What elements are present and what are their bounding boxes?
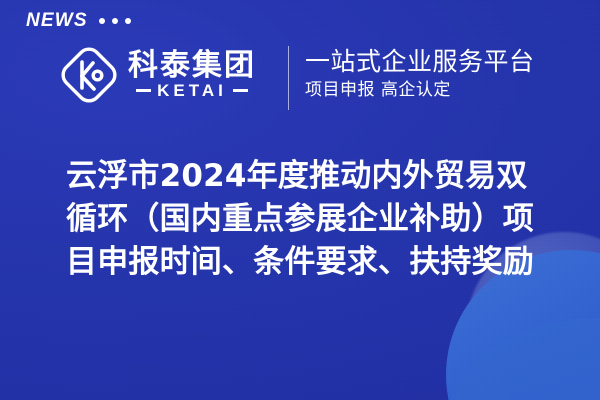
page-title: 云浮市2024年度推动内外贸易双循环（国内重点参展企业补助）项目申报时间、条件要… [66,155,540,284]
ketai-diamond-monogram-icon [58,44,120,106]
brand-name-en-row: KETAI [136,82,248,99]
tagline-block: 一站式企业服务平台 项目申报 高企认定 [305,48,535,100]
brand-name-cn: 科泰集团 [128,51,256,82]
dash-right-icon [233,89,248,92]
news-eyebrow-label: NEWS [26,11,88,30]
news-banner: NEWS 科泰集团 KETAI [0,0,600,400]
brand-logo: 科泰集团 KETAI [58,44,256,106]
tagline-main: 一站式企业服务平台 [305,48,535,76]
dash-left-icon [136,89,151,92]
three-dots-icon [99,18,131,24]
news-eyebrow: NEWS [26,11,131,30]
brand-wordmark: 科泰集团 KETAI [128,51,256,100]
vertical-divider-icon [288,46,289,110]
tagline-sub: 项目申报 高企认定 [305,81,535,100]
brand-name-en: KETAI [157,82,227,99]
